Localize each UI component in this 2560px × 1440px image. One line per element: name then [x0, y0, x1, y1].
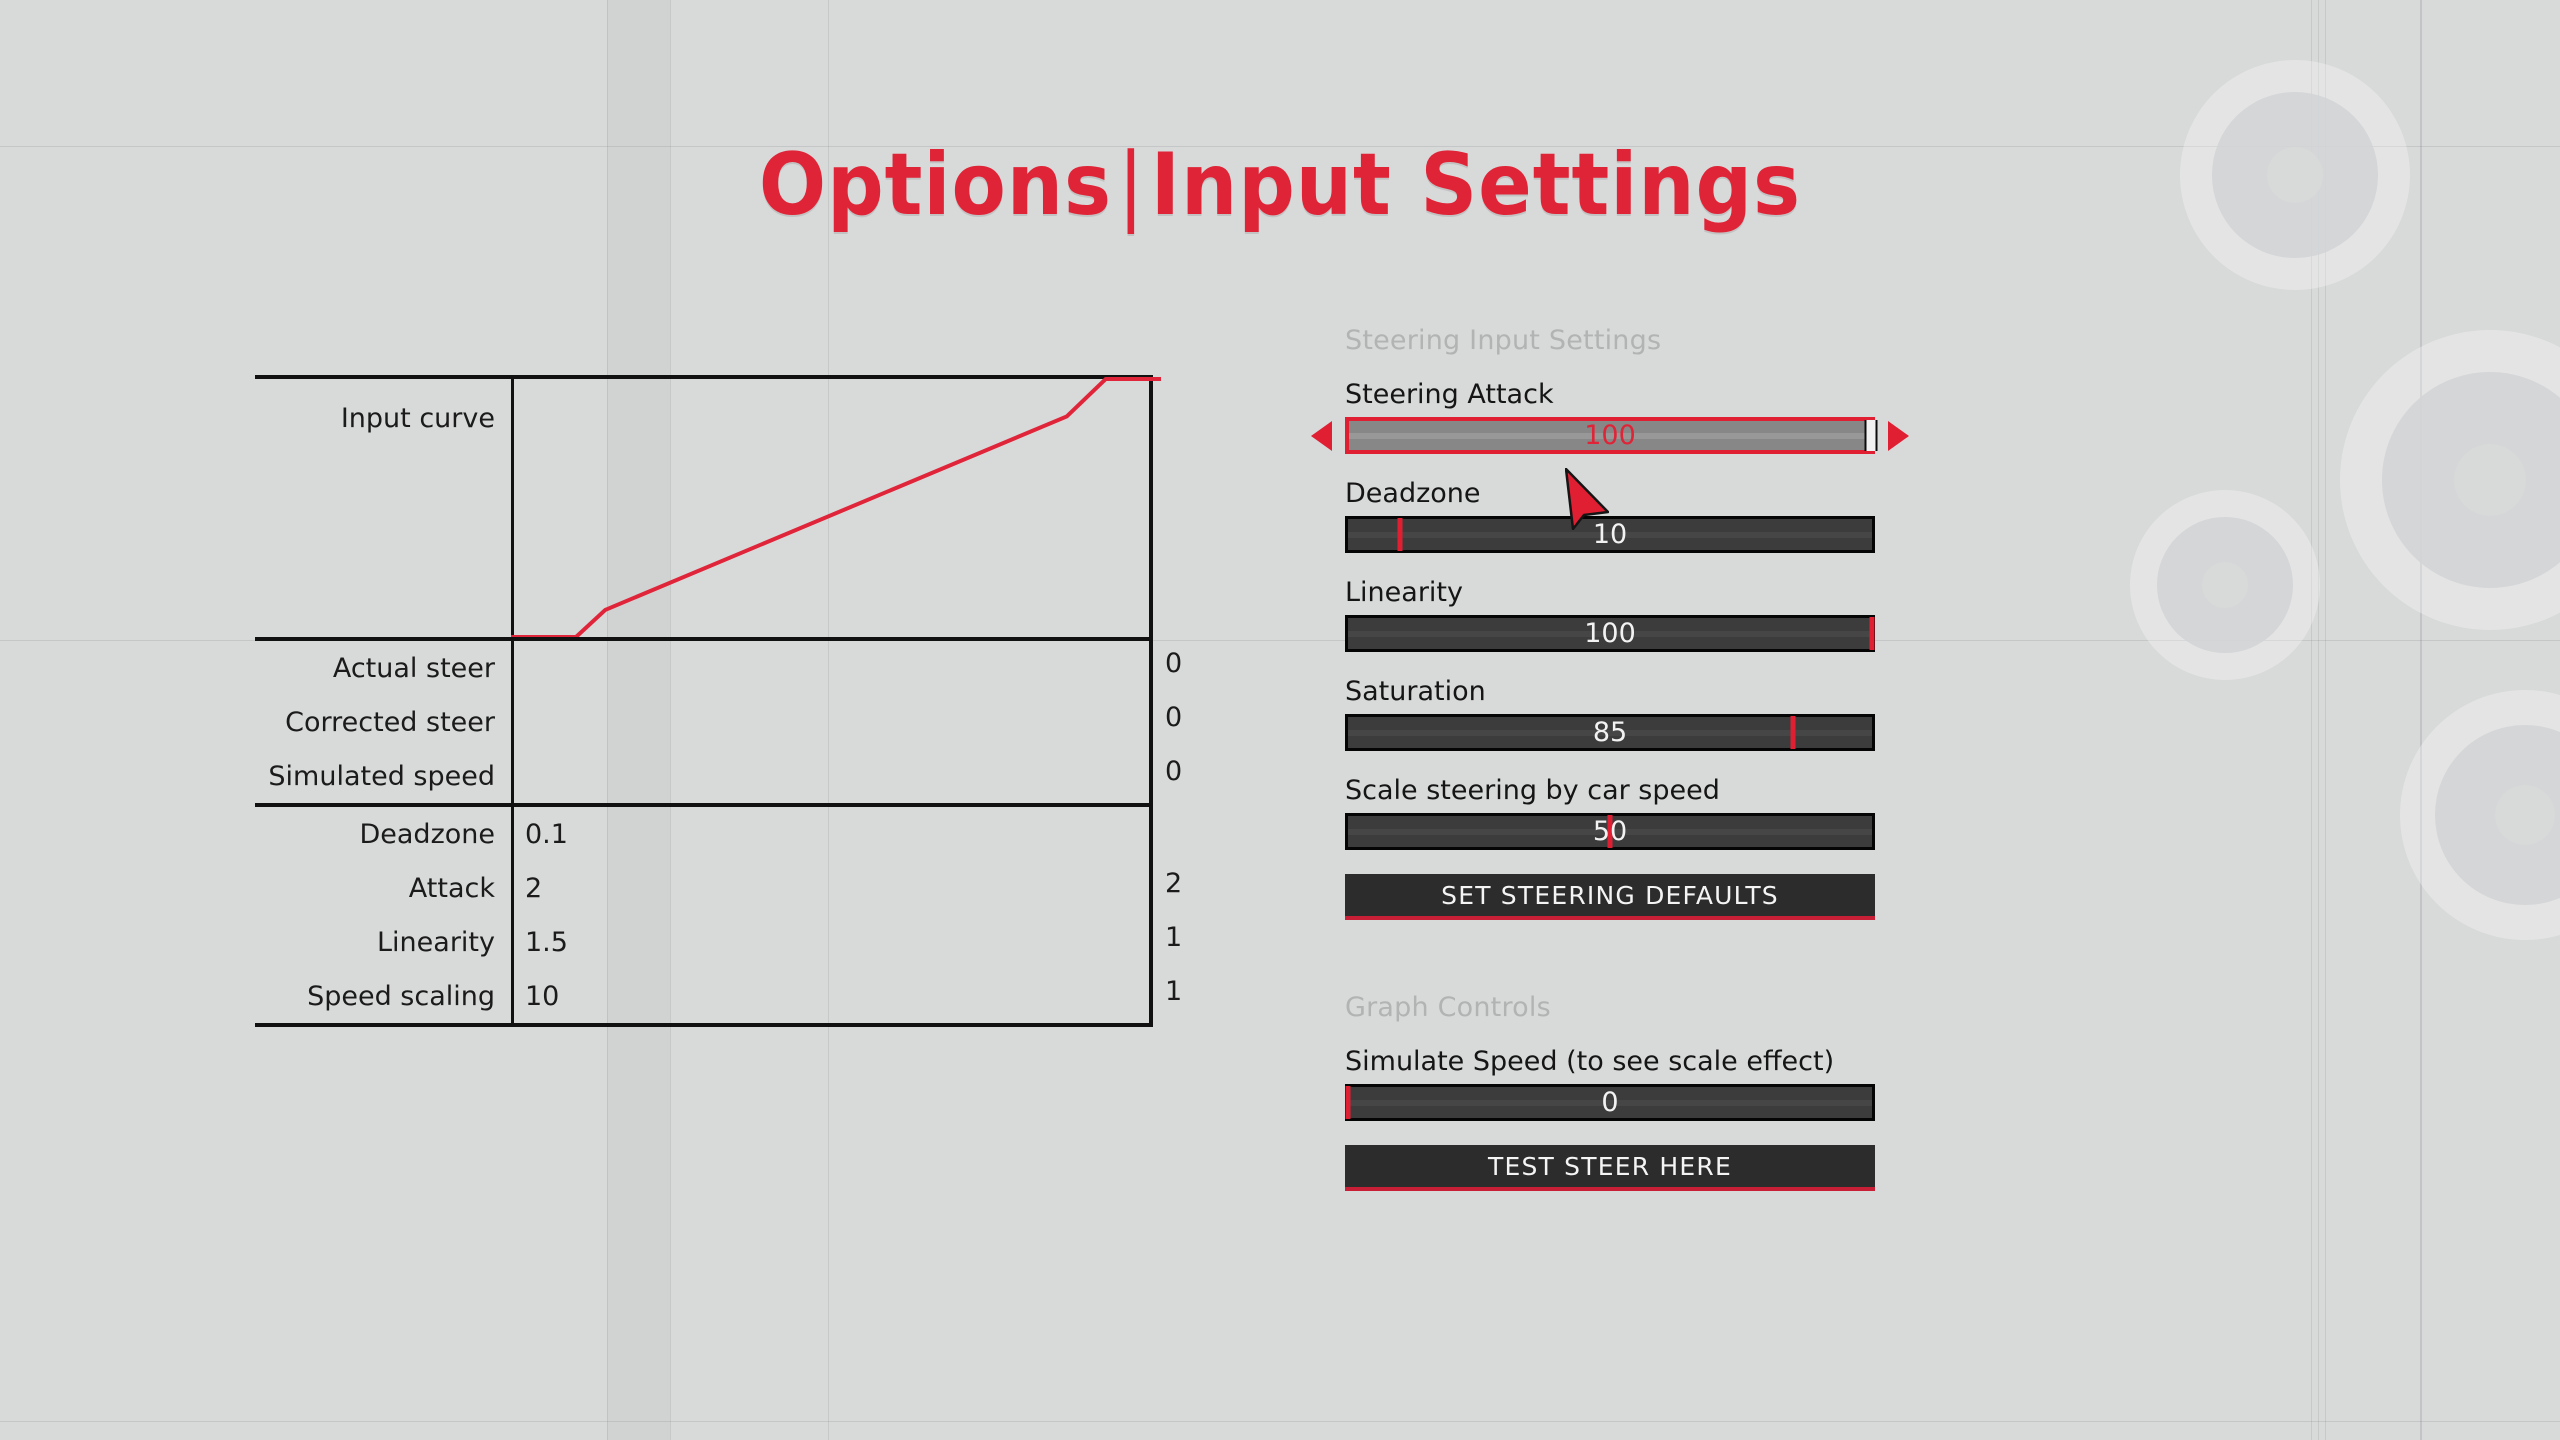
set-steering-defaults-button[interactable]: SET STEERING DEFAULTS: [1345, 874, 1875, 920]
readout-deadzone: [1165, 803, 1255, 857]
label-saturation: Saturation: [1345, 676, 1875, 707]
slider-value: 85: [1348, 717, 1872, 748]
label-linearity: Linearity: [1345, 577, 1875, 608]
readout-simulated-speed: 0: [1165, 745, 1255, 799]
table-row: Speed scaling 10: [255, 969, 1153, 1023]
slider-scale-steering-by-car-speed[interactable]: 50: [1345, 813, 1875, 850]
telemetry-table: Input curve Actual steer Corrected steer: [255, 375, 1153, 1027]
readout-attack: 2: [1165, 857, 1255, 911]
input-curve-section: Input curve: [255, 375, 1153, 637]
parameters-section: Deadzone 0.1 Attack 2 Linearity 1.5 Spee…: [255, 803, 1153, 1027]
increase-arrow-icon[interactable]: [1888, 421, 1909, 451]
label-simulate-speed: Simulate Speed (to see scale effect): [1345, 1046, 1875, 1077]
row-value: 0.1: [511, 819, 1153, 850]
page-title-left: Options: [759, 135, 1112, 235]
slider-saturation[interactable]: 85: [1345, 714, 1875, 751]
table-right-rule: [1149, 641, 1153, 803]
table-row: Attack 2: [255, 861, 1153, 915]
readout-spacer: [1165, 375, 1255, 633]
readout-corrected-steer: 0: [1165, 691, 1255, 745]
steering-section-header: Steering Input Settings: [1345, 325, 1875, 356]
label-deadzone: Deadzone: [1345, 478, 1875, 509]
slider-simulate-speed[interactable]: 0: [1345, 1084, 1875, 1121]
label-scale-steering-by-car-speed: Scale steering by car speed: [1345, 775, 1875, 806]
page-title-separator: |: [1112, 135, 1151, 235]
page-title: Options|Input Settings: [102, 142, 2457, 228]
row-label: Deadzone: [255, 819, 511, 850]
label-steering-attack: Steering Attack: [1345, 379, 1875, 410]
gear-watermark-icon: [2340, 330, 2560, 630]
section-spacer: [1345, 944, 1875, 992]
input-curve-plot: [511, 379, 1153, 637]
readout-actual-steer: 0: [1165, 637, 1255, 691]
row-value: 2: [511, 873, 1153, 904]
gear-watermark-icon: [2130, 490, 2320, 680]
row-label: Actual steer: [255, 653, 511, 684]
slider-deadzone[interactable]: 10: [1345, 516, 1875, 553]
row-label: Corrected steer: [255, 707, 511, 738]
table-row: Corrected steer: [255, 695, 1153, 749]
input-curve-svg: [511, 379, 1161, 637]
table-row: Linearity 1.5: [255, 915, 1153, 969]
readout-speed-scaling: 1: [1165, 965, 1255, 1019]
table-right-rule: [1149, 807, 1153, 1023]
graph-section-header: Graph Controls: [1345, 992, 1875, 1023]
page-title-right: Input Settings: [1151, 135, 1801, 235]
bg-grid-hline: [0, 1421, 2560, 1422]
row-value: 1.5: [511, 927, 1153, 958]
slider-value: 100: [1348, 618, 1872, 649]
readout-linearity: 1: [1165, 911, 1255, 965]
row-label: Speed scaling: [255, 981, 511, 1012]
settings-panel: Steering Input Settings Steering Attack …: [1345, 325, 1875, 1215]
row-label: Attack: [255, 873, 511, 904]
table-column-rule: [511, 641, 514, 803]
table-column-rule: [511, 807, 514, 1023]
row-label: Simulated speed: [255, 761, 511, 792]
table-row: Actual steer: [255, 641, 1153, 695]
slider-value: 50: [1348, 816, 1872, 847]
input-curve-line: [511, 379, 1161, 637]
test-steer-here-button[interactable]: TEST STEER HERE: [1345, 1145, 1875, 1191]
row-label: Linearity: [255, 927, 511, 958]
options-input-settings-screen: Options|Input Settings Input curve Actua…: [0, 0, 2560, 1440]
table-row: Simulated speed: [255, 749, 1153, 803]
input-curve-label: Input curve: [255, 379, 511, 637]
live-readings-section: Actual steer Corrected steer Simulated s…: [255, 637, 1153, 803]
gear-watermark-icon: [2400, 690, 2560, 940]
slider-value: 10: [1348, 519, 1872, 550]
slider-value: 100: [1349, 421, 1871, 450]
input-curve-row: Input curve: [255, 379, 1153, 637]
table-row: Deadzone 0.1: [255, 807, 1153, 861]
row-value: 10: [511, 981, 1153, 1012]
slider-steering-attack[interactable]: 100: [1345, 417, 1875, 454]
slider-linearity[interactable]: 100: [1345, 615, 1875, 652]
readout-column: 0 0 0 2 1 1: [1165, 375, 1255, 1019]
decrease-arrow-icon[interactable]: [1311, 421, 1332, 451]
slider-value: 0: [1348, 1087, 1872, 1118]
